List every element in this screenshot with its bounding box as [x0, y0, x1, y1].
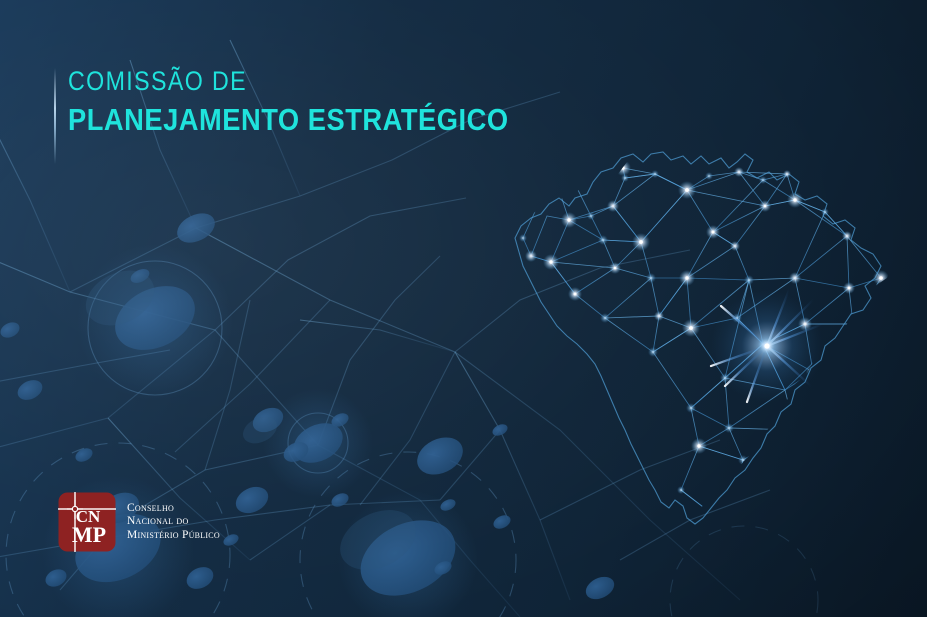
brazil-node-mesh: [519, 160, 889, 530]
mesh-nodes: [519, 160, 889, 530]
cnmp-word-line-2: Nacional do: [127, 515, 220, 529]
accent-rule: [54, 68, 56, 164]
cnmp-mark-bottom: MP: [72, 522, 106, 547]
brasilia-hub-node: [705, 288, 829, 402]
poster-canvas: COMISSÃO DE PLANEJAMENTO ESTRATÉGICO: [0, 0, 927, 617]
page-title: COMISSÃO DE PLANEJAMENTO ESTRATÉGICO: [68, 68, 569, 135]
cnmp-word-line-3: Ministério Público: [127, 529, 220, 543]
page-title-line2: PLANEJAMENTO ESTRATÉGICO: [68, 104, 509, 135]
page-title-line1: COMISSÃO DE: [68, 68, 499, 95]
cnmp-logo-mark: CN MP: [58, 492, 116, 552]
cnmp-logo[interactable]: CN MP Conselho Nacional do Ministério Pú…: [58, 492, 220, 552]
brazil-map-svg: [495, 128, 915, 533]
brazil-network-map: [495, 128, 915, 533]
cnmp-word-line-1: Conselho: [127, 502, 220, 516]
cnmp-logo-wordmark: Conselho Nacional do Ministério Público: [127, 502, 220, 543]
